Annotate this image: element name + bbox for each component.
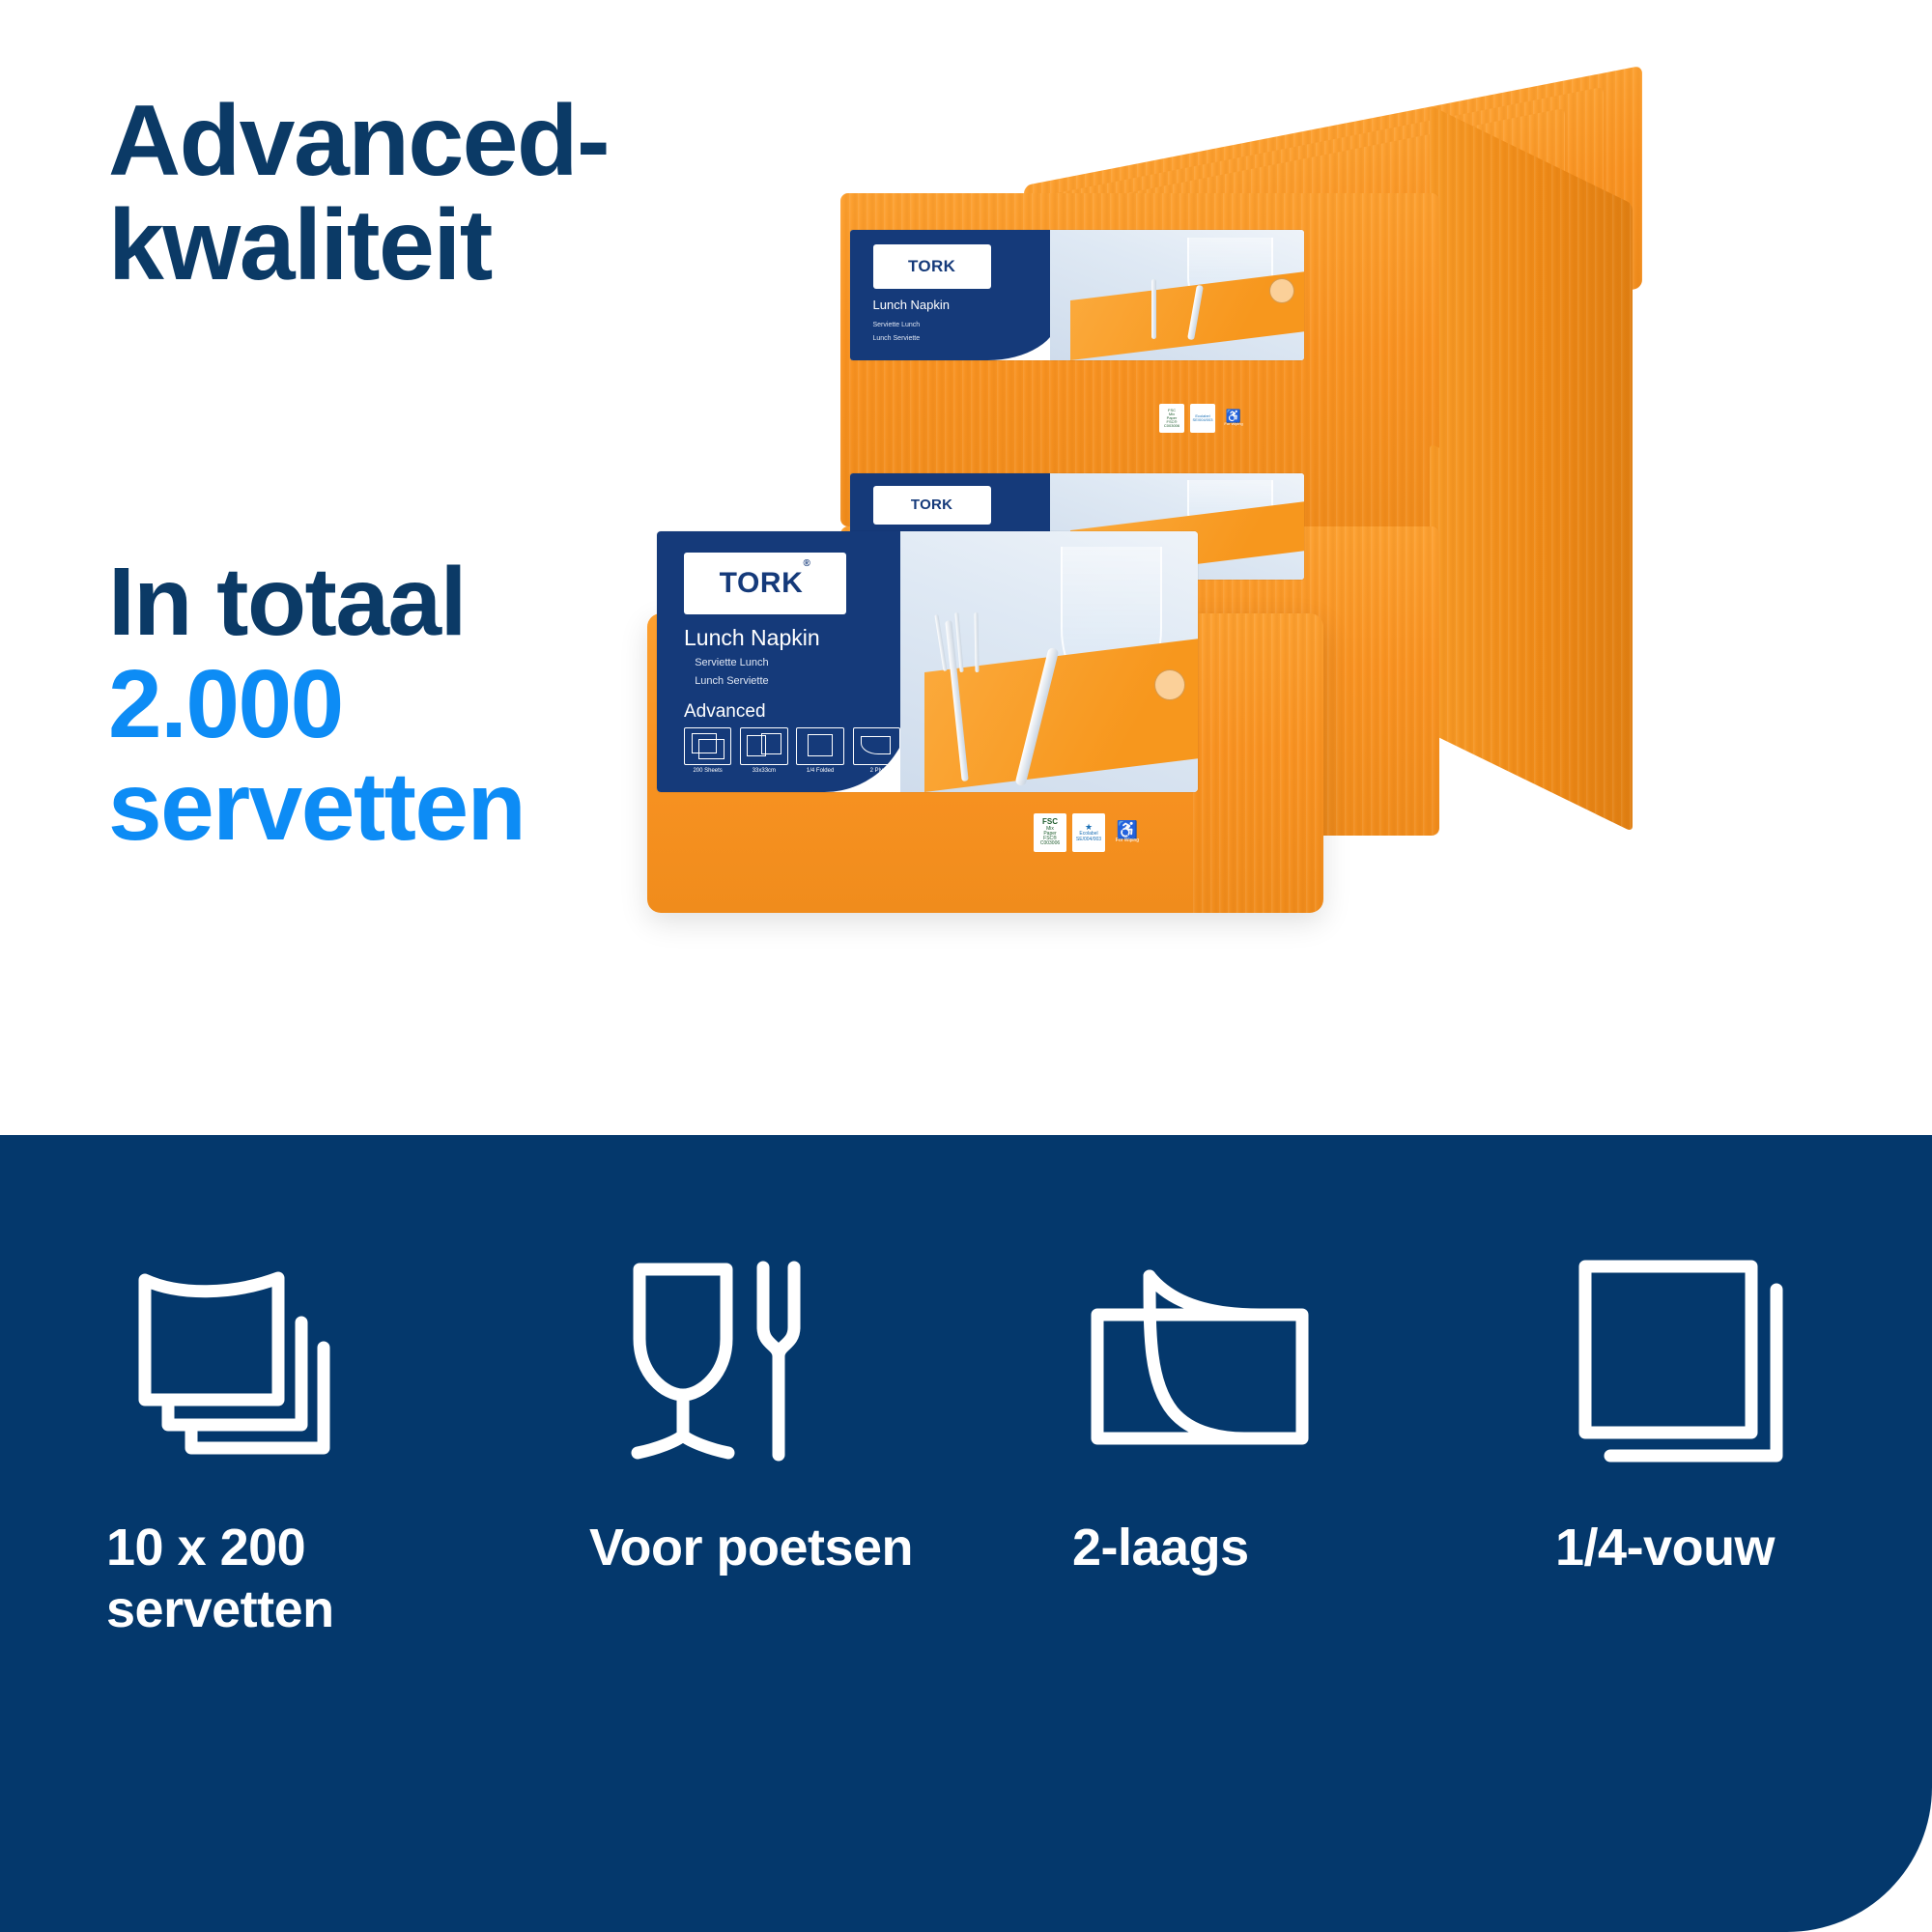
spec-label-ply: 2 Ply	[870, 768, 883, 774]
spec-label-sheets: 200 Sheets	[693, 768, 722, 774]
spec-cell-sheets: 200 Sheets	[684, 727, 731, 774]
feature-item-fold: 1/4-vouw	[1449, 1241, 1932, 1640]
carton-front-hero-texture	[1193, 613, 1323, 913]
feature-grid: 10 x 200 servetten	[0, 1241, 1932, 1640]
pack-sub-line-2-front: Lunch Serviette	[695, 675, 768, 687]
pack-sub-line-2-upper: Lunch Serviette	[873, 335, 921, 342]
feature-label-fold: 1/4-vouw	[1555, 1518, 1775, 1579]
tork-registered-mark: ®	[803, 558, 810, 569]
fsc-logo-front: FSC Mix Paper FSC® C003006	[1034, 813, 1066, 852]
feature-label-usage: Voor poetsen	[589, 1518, 913, 1579]
spec-row-front: 200 Sheets 33x33cm 1/4 Folded	[684, 727, 900, 774]
tork-logo-upper: TORK	[873, 244, 991, 289]
pack-label-upper: TORK Lunch Napkin Serviette Lunch Lunch …	[850, 230, 1304, 360]
tork-logo-front: TORK ®	[684, 553, 846, 615]
tork-wordmark-front: TORK	[720, 567, 804, 600]
headline-line-1: Advanced-	[108, 89, 862, 193]
spec-label-fold: 1/4 Folded	[807, 768, 834, 774]
pack-open-tab-front	[1154, 669, 1185, 700]
quarter-fold-icon	[796, 727, 843, 765]
hero-panel: Advanced- kwaliteit In totaal 2.000 serv…	[0, 0, 1932, 1135]
spec-cell-fold: 1/4 Folded	[796, 727, 843, 774]
eu-ecolabel-logo-upper: Ecolabel SE/004/003	[1190, 404, 1215, 433]
spec-cell-ply: 2 Ply	[853, 727, 900, 774]
feature-item-usage: Voor poetsen	[483, 1241, 966, 1640]
tork-logo-lower: TORK	[873, 486, 991, 525]
feature-item-ply: 2-laags	[966, 1241, 1449, 1640]
feature-item-quantity: 10 x 200 servetten	[0, 1241, 483, 1640]
pack-sub-line-1-front: Serviette Lunch	[695, 657, 768, 668]
two-ply-napkin-icon	[1072, 1241, 1333, 1483]
fsc-logo-upper: FSC Mix Paper FSC® C003006	[1159, 404, 1184, 433]
certification-row-front: FSC Mix Paper FSC® C003006 ★ Ecolabel SE…	[1034, 813, 1144, 852]
tork-wordmark-upper: TORK	[908, 257, 955, 276]
label-photo-field	[900, 531, 1198, 792]
pack-title-front: Lunch Napkin	[684, 625, 820, 651]
product-image: TORK Lunch Napkin Serviette Lunch Lunch …	[753, 87, 1932, 1111]
pack-label-front: TORK ® Lunch Napkin Serviette Lunch Lunc…	[657, 531, 1198, 792]
features-panel: 10 x 200 servetten	[0, 1135, 1932, 1932]
glass-and-fork-icon	[589, 1241, 850, 1483]
pack-open-tab-upper	[1269, 278, 1294, 303]
two-ply-icon	[853, 727, 900, 765]
dimensions-icon	[740, 727, 787, 765]
pack-sub-line-1-upper: Serviette Lunch	[873, 322, 921, 328]
headline-line-2: kwaliteit	[108, 193, 862, 298]
food-safe-icon-upper: ♿ For Wiping	[1221, 404, 1246, 433]
headline-block: Advanced- kwaliteit	[108, 89, 862, 298]
quarter-fold-napkin-icon	[1555, 1241, 1816, 1483]
spec-cell-dimensions: 33x33cm	[740, 727, 787, 774]
eu-ecolabel-logo-front: ★ Ecolabel SE/004/003	[1072, 813, 1105, 852]
feature-label-quantity: 10 x 200 servetten	[106, 1518, 334, 1640]
photo-fork-tine-3	[974, 612, 979, 672]
pack-quality-front: Advanced	[684, 701, 766, 723]
food-safe-icon-front: ♿ For Wiping	[1111, 813, 1144, 852]
pack-title-upper: Lunch Napkin	[873, 298, 951, 312]
tork-wordmark-lower: TORK	[911, 497, 952, 513]
certification-row-upper: FSC Mix Paper FSC® C003006 Ecolabel SE/0…	[1159, 404, 1246, 433]
sheets-icon	[684, 727, 731, 765]
stacked-napkins-icon	[106, 1241, 367, 1483]
feature-label-ply: 2-laags	[1072, 1518, 1249, 1579]
spec-label-dimensions: 33x33cm	[753, 768, 776, 774]
